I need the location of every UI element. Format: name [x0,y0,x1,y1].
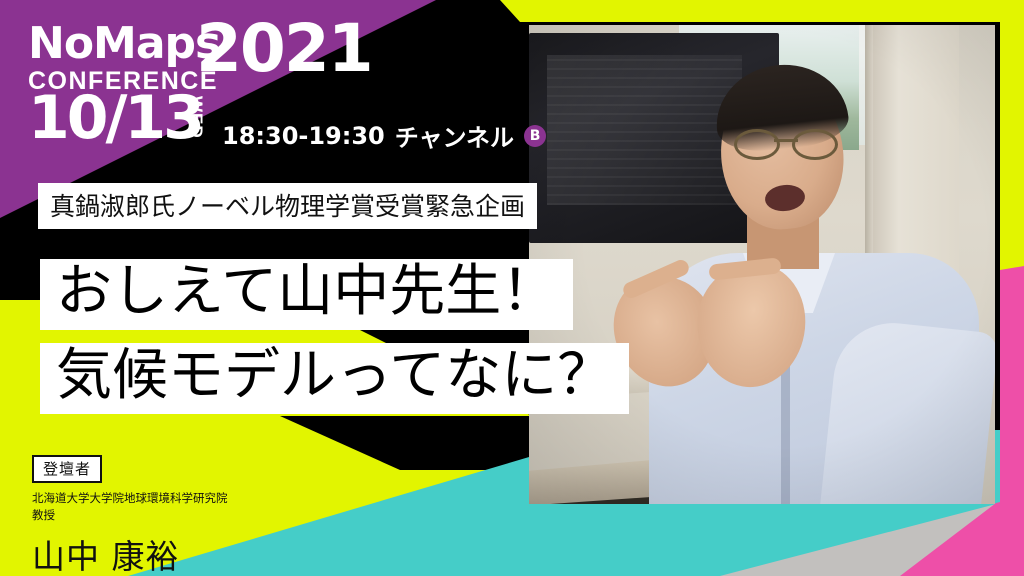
speaker-position: 教授 [32,507,228,524]
session-kicker: 真鍋淑郎氏ノーベル物理学賞受賞緊急企画 [38,183,537,229]
event-year: 2021 [196,16,372,82]
brand-name: NoMaps [28,22,220,66]
channel-label: チャンネル [395,118,514,153]
speaker-photo [529,25,995,504]
speaker-block: 登壇者 北海道大学大学院地球環境科学研究院 教授 山中 康裕 [32,455,228,576]
session-title-line-1: おしえて山中先生！ [40,259,573,330]
speaker-affiliation: 北海道大学大学院地球環境科学研究院 [32,490,228,507]
speaker-name: 山中 康裕 [32,530,228,576]
photo-vignette [529,25,995,504]
event-weekday: WED [186,96,206,139]
event-poster: NoMaps CONFERENCE 2021 10/13 WED 18:30-1… [0,0,1024,576]
session-title-line-2: 気候モデルってなに？ [40,343,629,414]
event-time: 18:30-19:30 [222,122,385,150]
channel-badge: B [524,125,546,147]
event-date: 10/13 [28,88,202,148]
event-time-row: 18:30-19:30 チャンネル B [222,118,546,153]
speaker-badge: 登壇者 [32,455,102,483]
speaker-affiliation-group: 北海道大学大学院地球環境科学研究院 教授 [32,490,228,523]
